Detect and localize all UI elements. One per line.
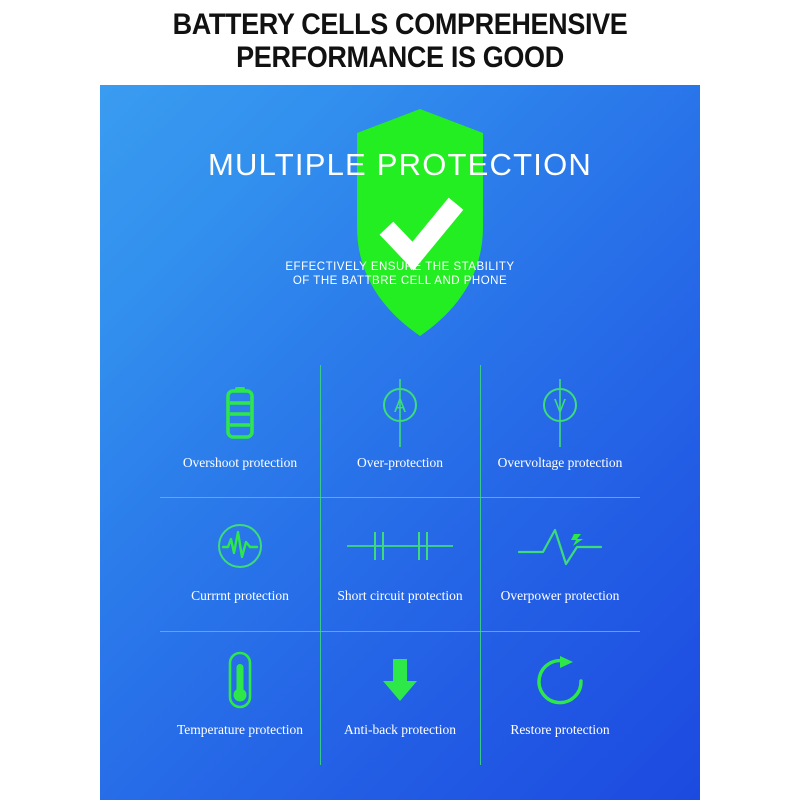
thermometer-icon xyxy=(225,644,255,716)
feature-label: Restore protection xyxy=(510,722,609,738)
hero-subtitle-line-2: OF THE BATTBRE CELL AND PHONE xyxy=(100,274,700,288)
svg-text:V: V xyxy=(554,396,566,416)
hero-subtitle: EFFECTIVELY ENSURE THE STABILITY OF THE … xyxy=(100,260,700,288)
feature-cell-overvoltage-protection: V Overvoltage protection xyxy=(480,365,640,498)
feature-cell-restore-protection: Restore protection xyxy=(480,632,640,765)
feature-label: Overshoot protection xyxy=(183,455,297,471)
ammeter-icon: A xyxy=(378,377,422,449)
hero-title: MULTIPLE PROTECTION xyxy=(100,147,700,183)
feature-cell-overshoot-protection: Overshoot protection xyxy=(160,365,320,498)
page-title-line-2: PERFORMANCE IS GOOD xyxy=(40,41,760,74)
shield-check-icon xyxy=(355,107,485,339)
feature-label: Overvoltage protection xyxy=(498,455,623,471)
voltmeter-icon: V xyxy=(538,377,582,449)
feature-label: Overpower protection xyxy=(501,588,620,604)
feature-cell-current-protection: Currrnt protection xyxy=(160,498,320,631)
short-circuit-icon xyxy=(345,510,455,582)
refresh-arrow-icon xyxy=(533,644,587,716)
feature-cell-temperature-protection: Temperature protection xyxy=(160,632,320,765)
pulse-circle-icon xyxy=(216,510,264,582)
feature-label: Temperature protection xyxy=(177,722,303,738)
feature-grid: Overshoot protection A Over-protection V xyxy=(160,365,640,765)
feature-cell-short-circuit-protection: Short circuit protection xyxy=(320,498,480,631)
hero-section: MULTIPLE PROTECTION EFFECTIVELY ENSURE T… xyxy=(100,85,700,350)
feature-cell-over-protection: A Over-protection xyxy=(320,365,480,498)
power-spike-icon xyxy=(517,510,603,582)
down-arrow-icon xyxy=(380,644,420,716)
feature-label: Currrnt protection xyxy=(191,588,289,604)
battery-icon xyxy=(223,377,257,449)
svg-text:A: A xyxy=(394,396,406,416)
feature-label: Anti-back protection xyxy=(344,722,456,738)
feature-label: Over-protection xyxy=(357,455,443,471)
feature-cell-anti-back-protection: Anti-back protection xyxy=(320,632,480,765)
page-title-line-1: BATTERY CELLS COMPREHENSIVE xyxy=(40,8,760,41)
page-title: BATTERY CELLS COMPREHENSIVE PERFORMANCE … xyxy=(0,8,800,74)
feature-cell-overpower-protection: Overpower protection xyxy=(480,498,640,631)
hero-subtitle-line-1: EFFECTIVELY ENSURE THE STABILITY xyxy=(100,260,700,274)
infographic-panel: MULTIPLE PROTECTION EFFECTIVELY ENSURE T… xyxy=(100,85,700,800)
feature-label: Short circuit protection xyxy=(337,588,462,604)
